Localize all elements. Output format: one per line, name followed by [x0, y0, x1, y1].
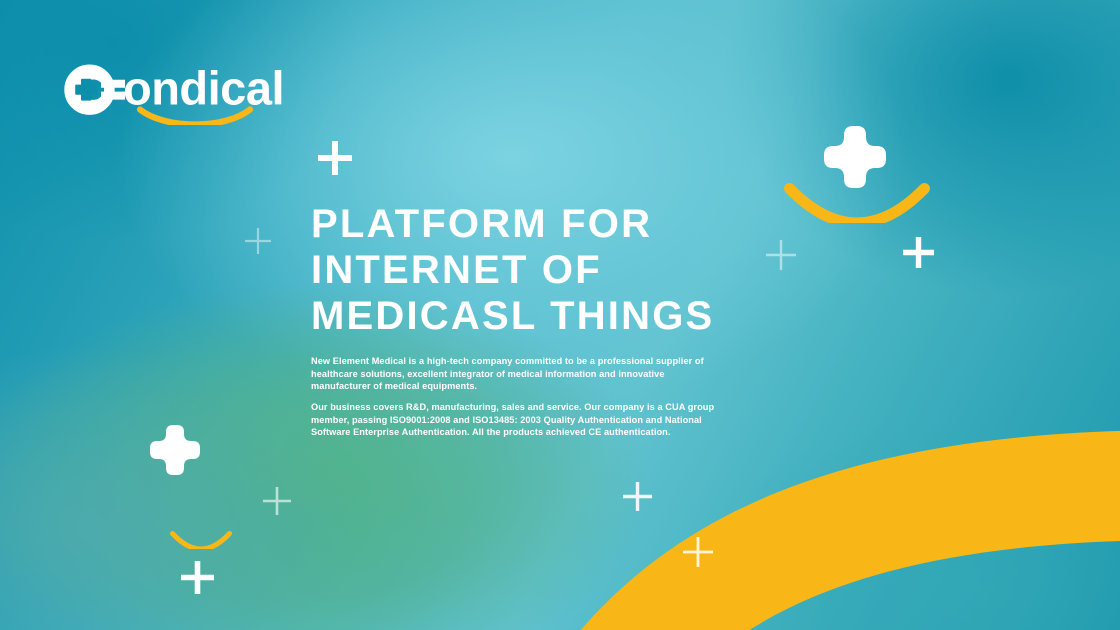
- body-paragraph-2: Our business covers R&D, manufacturing, …: [311, 401, 723, 439]
- headline-line-2: INTERNET OF: [311, 247, 781, 293]
- plus-mark-8: [181, 561, 214, 594]
- plus-mark-2: [245, 228, 271, 254]
- rounded-cross-left: [150, 425, 200, 475]
- plus-mark-4: [903, 237, 934, 268]
- plus-mark-5: [263, 487, 291, 515]
- rounded-cross-top-right: [824, 126, 886, 188]
- headline-line-1: PLATFORM FOR: [311, 201, 781, 247]
- page-title: PLATFORM FOR INTERNET OF MEDICASL THINGS: [311, 201, 781, 339]
- plus-mark-6: [623, 482, 652, 511]
- body-paragraph-1: New Element Medical is a high-tech compa…: [311, 355, 723, 393]
- svg-text:ondical: ondical: [123, 62, 284, 115]
- plus-mark-1: [318, 141, 352, 175]
- brand-logo[interactable]: ondical: [62, 53, 312, 125]
- smile-arc-top-right: [784, 183, 930, 223]
- smile-arc-left: [170, 531, 232, 549]
- plus-mark-3: [766, 240, 796, 270]
- headline-line-3: MEDICASL THINGS: [311, 293, 781, 339]
- plus-mark-7: [683, 537, 713, 567]
- slide-canvas: ondical PLATFORM FOR INTERNET OF MEDICAS…: [0, 0, 1120, 630]
- cross-in-letter-c-icon: [70, 70, 125, 110]
